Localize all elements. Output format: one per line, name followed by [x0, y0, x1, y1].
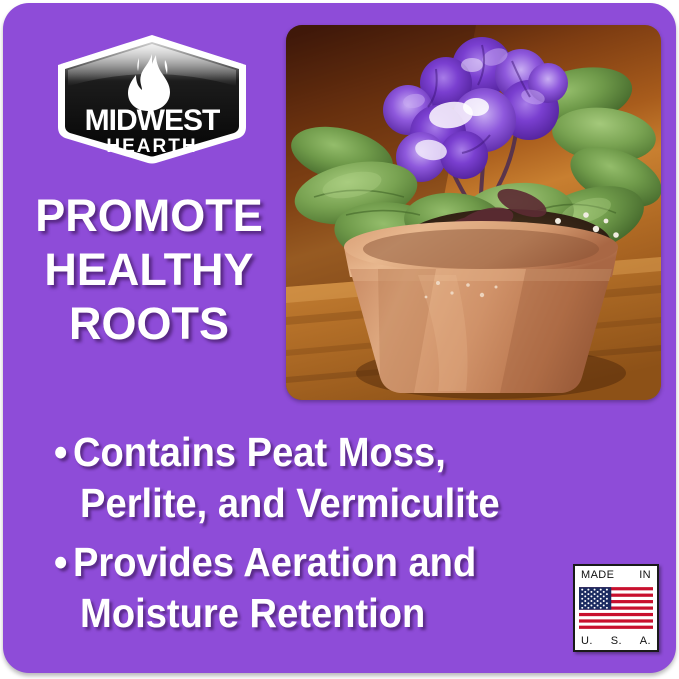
- feature-1-text-1: Contains Peat Moss,: [73, 429, 446, 475]
- midwest-hearth-logo: MIDWEST HEARTH: [53, 34, 251, 165]
- badge-a-label: A.: [640, 635, 651, 647]
- page-title: PROMOTE HEALTHY ROOTS: [13, 189, 285, 351]
- feature-2-line-2: Moisture Retention: [41, 588, 562, 639]
- feature-2-text-1: Provides Aeration and: [73, 539, 476, 585]
- logo-brand-top: MIDWEST: [85, 104, 220, 137]
- bullet-dot-icon: •: [54, 429, 73, 475]
- list-item: •Provides Aeration and Moisture Retentio…: [41, 537, 601, 639]
- list-item: •Contains Peat Moss, Perlite, and Vermic…: [41, 427, 601, 529]
- badge-in-label: IN: [639, 569, 651, 581]
- purple-panel: MIDWEST HEARTH PROMOTE HEALTHY ROOTS: [3, 3, 676, 673]
- badge-made-label: MADE: [581, 569, 614, 581]
- feature-list: •Contains Peat Moss, Perlite, and Vermic…: [41, 427, 601, 647]
- headline-line-3: ROOTS: [13, 297, 285, 351]
- headline-line-2: HEALTHY: [13, 243, 285, 297]
- terracotta-pot: [344, 221, 618, 393]
- feature-1-line-2: Perlite, and Vermiculite: [41, 478, 562, 529]
- badge-u-label: U.: [581, 635, 593, 647]
- product-feature-image: MIDWEST HEARTH PROMOTE HEALTHY ROOTS: [0, 0, 679, 679]
- badge-bottom-row: U. S. A.: [579, 635, 653, 647]
- made-in-usa-badge: MADE IN: [573, 564, 659, 652]
- bullet-dot-icon: •: [54, 539, 73, 585]
- feature-1-line-1: •Contains Peat Moss,: [41, 427, 562, 478]
- us-flag-icon: [579, 586, 653, 630]
- headline-line-1: PROMOTE: [13, 189, 285, 243]
- badge-top-row: MADE IN: [579, 569, 653, 581]
- logo-brand-bottom: HEARTH: [106, 136, 197, 157]
- badge-s-label: S.: [611, 635, 622, 647]
- product-photo: [286, 25, 661, 400]
- feature-2-line-1: •Provides Aeration and: [41, 537, 562, 588]
